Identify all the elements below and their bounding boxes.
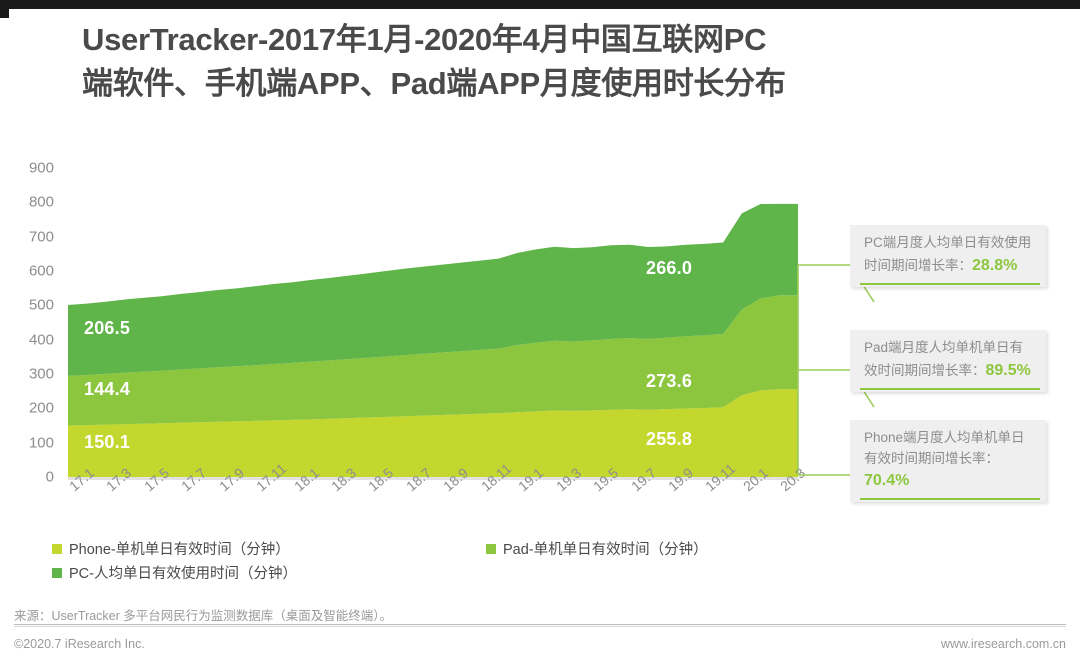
website-text: www.iresearch.com.cn <box>941 637 1066 651</box>
page-title: UserTracker-2017年1月-2020年4月中国互联网PC 端软件、手… <box>82 18 1032 106</box>
value-label-pc-left: 206.5 <box>84 318 130 339</box>
callout-pad-key: Pad端 <box>864 340 902 355</box>
footer-divider <box>14 624 1066 625</box>
copyright-text: ©2020.7 iResearch Inc. <box>14 637 145 651</box>
y-tick-0: 0 <box>46 470 54 485</box>
callout-pc[interactable]: PC端月度人均单日有效使用时间期间增长率：28.8% <box>850 225 1046 287</box>
callout-pc-value: 28.8% <box>972 257 1017 274</box>
y-tick-100: 100 <box>29 435 54 450</box>
legend-label-pc: PC-人均单日有效使用时间（分钟） <box>69 562 297 583</box>
callout-phone[interactable]: Phone端月度人均单机单日有效时间期间增长率：70.4% <box>850 420 1046 502</box>
y-tick-600: 600 <box>29 264 54 279</box>
footer-divider-secondary <box>14 626 1066 627</box>
legend-item-phone[interactable]: Phone-单机单日有效时间（分钟） <box>52 538 290 559</box>
legend-item-pad[interactable]: Pad-单机单日有效时间（分钟） <box>486 538 708 559</box>
callout-pad-underline <box>860 388 1040 390</box>
callout-phone-value: 70.4% <box>864 472 909 489</box>
value-label-phone-right: 255.8 <box>646 429 692 450</box>
value-label-pc-right: 266.0 <box>646 258 692 279</box>
callout-phone-underline <box>860 498 1040 500</box>
legend-swatch-pc-icon <box>52 568 62 578</box>
title-line-2: 端软件、手机端APP、Pad端APP月度使用时长分布 <box>82 62 1032 106</box>
chart-legend: Phone-单机单日有效时间（分钟） Pad-单机单日有效时间（分钟） PC-人… <box>52 538 812 586</box>
value-label-pad-left: 144.4 <box>84 379 130 400</box>
y-axis: 9008007006005004003002001000 <box>0 150 62 480</box>
y-tick-500: 500 <box>29 298 54 313</box>
top-left-corner-mark <box>0 0 9 18</box>
y-tick-300: 300 <box>29 367 54 382</box>
callout-pad[interactable]: Pad端月度人均单机单日有效时间期间增长率：89.5% <box>850 330 1046 392</box>
title-line-1: UserTracker-2017年1月-2020年4月中国互联网PC <box>82 18 1032 62</box>
legend-label-phone: Phone-单机单日有效时间（分钟） <box>69 538 290 559</box>
top-decoration-bar <box>0 0 1080 9</box>
y-tick-400: 400 <box>29 332 54 347</box>
source-note: 来源：UserTracker 多平台网民行为监测数据库（桌面及智能终端）。 <box>14 605 392 624</box>
callout-pc-underline <box>860 283 1040 285</box>
value-label-phone-left: 150.1 <box>84 432 130 453</box>
y-tick-800: 800 <box>29 195 54 210</box>
callout-pad-value: 89.5% <box>986 362 1031 379</box>
y-tick-700: 700 <box>29 229 54 244</box>
callout-phone-key: Phone端 <box>864 430 917 445</box>
value-label-pad-right: 273.6 <box>646 371 692 392</box>
callout-pc-key: PC端 <box>864 235 896 250</box>
legend-item-pc[interactable]: PC-人均单日有效使用时间（分钟） <box>52 562 297 583</box>
legend-swatch-pad-icon <box>486 544 496 554</box>
legend-swatch-phone-icon <box>52 544 62 554</box>
y-tick-200: 200 <box>29 401 54 416</box>
x-axis: 17.117.317.517.717.917.1118.118.318.518.… <box>68 482 808 542</box>
legend-label-pad: Pad-单机单日有效时间（分钟） <box>503 538 708 559</box>
y-tick-900: 900 <box>29 161 54 176</box>
